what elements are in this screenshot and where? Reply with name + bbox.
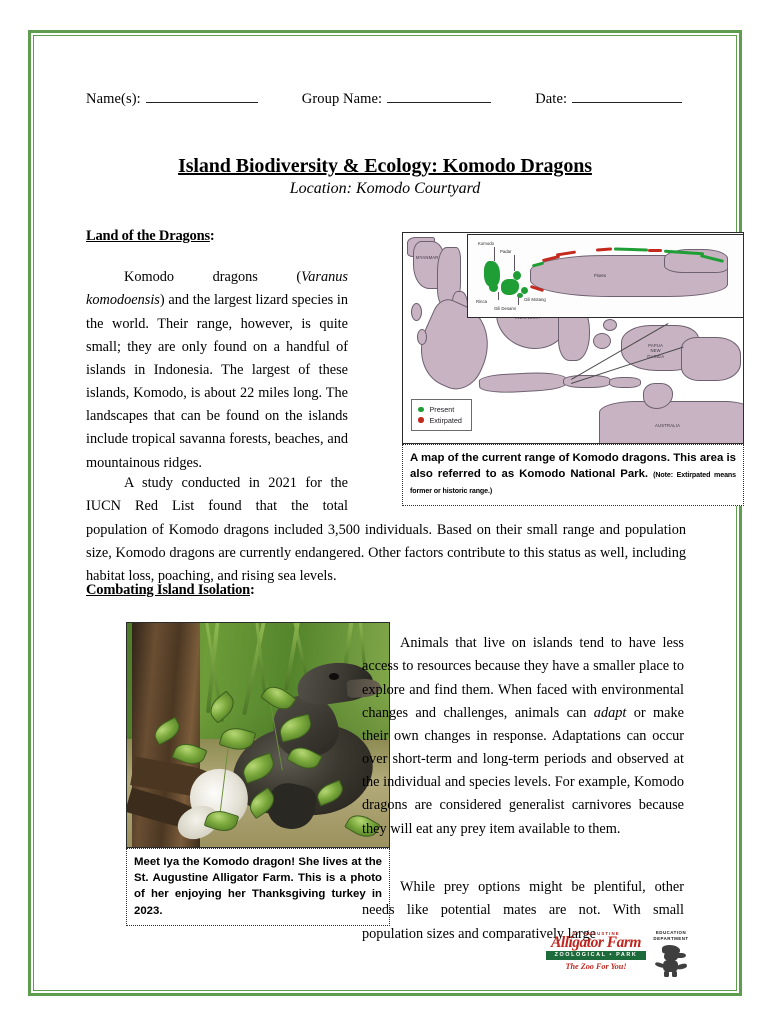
education-department-text: EDUCATION DEPARTMENT	[644, 930, 698, 941]
inset-label-rinca: Rinca	[476, 299, 487, 304]
landmass-maluku	[593, 333, 611, 349]
photo-caption: Meet Iya the Komodo dragon! She lives at…	[126, 848, 390, 926]
map-legend: Present Extirpated	[411, 399, 472, 431]
landmass-mentawai	[417, 329, 427, 345]
group-name-label: Group Name:	[302, 91, 382, 108]
group-name-field[interactable]: Group Name:	[302, 90, 491, 108]
mascot-leg	[672, 971, 677, 977]
legend-row-extirpated: Extirpated	[418, 416, 462, 425]
section-heading-combating-island-isolation: Combating Island Isolation:	[86, 582, 255, 599]
komodo-dragon-photo-image	[126, 622, 390, 848]
inset-leader-padar	[514, 255, 515, 271]
name-writing-line[interactable]	[146, 90, 258, 103]
page-subtitle: Location: Komodo Courtyard	[0, 180, 770, 198]
para-land-part-a: Komodo dragons (	[124, 269, 301, 285]
inset-island-rinca-west	[489, 283, 498, 292]
logo-alligator-farm-text: Alligator Farm	[546, 935, 646, 951]
paragraph-land-of-the-dragons: Komodo dragons (Varanus komodoensis) and…	[86, 266, 348, 474]
inset-island-padar	[513, 271, 521, 280]
legend-dot-present-icon	[418, 407, 424, 413]
logo-zoological-park-bar: ZOOLOGICAL • PARK	[546, 951, 646, 960]
term-adapt: adapt	[594, 705, 627, 721]
date-writing-line[interactable]	[572, 90, 682, 103]
section-heading-land-colon: :	[210, 228, 215, 244]
date-field[interactable]: Date:	[535, 90, 682, 108]
inset-range-present-flores-north	[614, 247, 648, 251]
para-animals-part-b: or make their own changes in response. A…	[362, 705, 684, 837]
map-label-myanmar: MYANMAR	[416, 255, 439, 260]
section-heading-land-text: Land of the Dragons	[86, 228, 210, 244]
mascot-leg	[664, 971, 669, 977]
komodo-dragon-photo-figure: Meet Iya the Komodo dragon! She lives at…	[126, 622, 390, 926]
name-label: Name(s):	[86, 91, 141, 108]
paragraph-island-animals: Animals that live on islands tend to hav…	[362, 632, 684, 840]
landmass-java	[479, 371, 568, 395]
inset-label-komodo: Komodo	[478, 241, 494, 246]
mascot-tail	[677, 963, 688, 970]
education-department-badge: EDUCATION DEPARTMENT	[644, 930, 698, 977]
komodo-range-map-image: MYANMAR INDONESIA PAPUA NEW GUINEA AUSTR…	[402, 232, 744, 444]
page-title: Island Biodiversity & Ecology: Komodo Dr…	[0, 155, 770, 178]
date-label: Date:	[535, 91, 567, 108]
landmass-timor	[609, 377, 641, 388]
landmass-png-east	[681, 337, 741, 381]
student-info-row: Name(s): Group Name: Date:	[86, 90, 686, 108]
komodo-range-map-figure: MYANMAR INDONESIA PAPUA NEW GUINEA AUSTR…	[402, 232, 744, 506]
legend-label-extirpated: Extirpated	[430, 416, 462, 425]
map-label-australia: AUSTRALIA	[655, 423, 680, 428]
inset-leader-rinca	[498, 292, 499, 300]
alligator-farm-wordmark-group: ST. AUGUSTINE Alligator Farm ZOOLOGICAL …	[546, 930, 646, 978]
inset-range-extirpated-4	[648, 249, 662, 252]
inset-label-flores: Flores	[594, 273, 606, 278]
section-heading-land-of-the-dragons: Land of the Dragons:	[86, 228, 215, 245]
inset-label-gili-desami: Gili Desami	[494, 306, 516, 311]
para-land-part-b: ) and the largest lizard species in the …	[86, 292, 348, 470]
legend-label-present: Present	[430, 405, 455, 414]
alligator-farm-logo: ST. AUGUSTINE Alligator Farm ZOOLOGICAL …	[546, 930, 698, 980]
landmass-halmahera	[603, 319, 617, 331]
inset-label-gili-motang: Gili Motang	[524, 297, 546, 302]
mascot-snout	[677, 953, 686, 958]
section-heading-combat-colon: :	[250, 582, 255, 598]
legend-row-present: Present	[418, 405, 462, 414]
logo-slogan-text: The Zoo For You!	[546, 962, 646, 971]
worksheet-content: Name(s): Group Name: Date: Island Biodiv…	[0, 0, 770, 1024]
map-caption: A map of the current range of Komodo dra…	[402, 444, 744, 506]
section-heading-combat-text: Combating Island Isolation	[86, 582, 250, 598]
legend-dot-extirpated-icon	[418, 417, 424, 423]
landmass-nias	[411, 303, 422, 321]
inset-range-extirpated-3	[596, 247, 612, 251]
inset-leader-komodo	[494, 247, 495, 261]
map-inset-komodo-detail: Komodo Padar Flores Rinca Gili Desami Gi…	[467, 234, 744, 318]
inset-island-rinca	[501, 279, 519, 295]
alligator-mascot-icon	[653, 943, 689, 977]
group-name-writing-line[interactable]	[387, 90, 491, 103]
inset-label-padar: Padar	[500, 249, 511, 254]
name-field[interactable]: Name(s):	[86, 90, 258, 108]
inset-leader-gili-desami	[518, 297, 519, 305]
